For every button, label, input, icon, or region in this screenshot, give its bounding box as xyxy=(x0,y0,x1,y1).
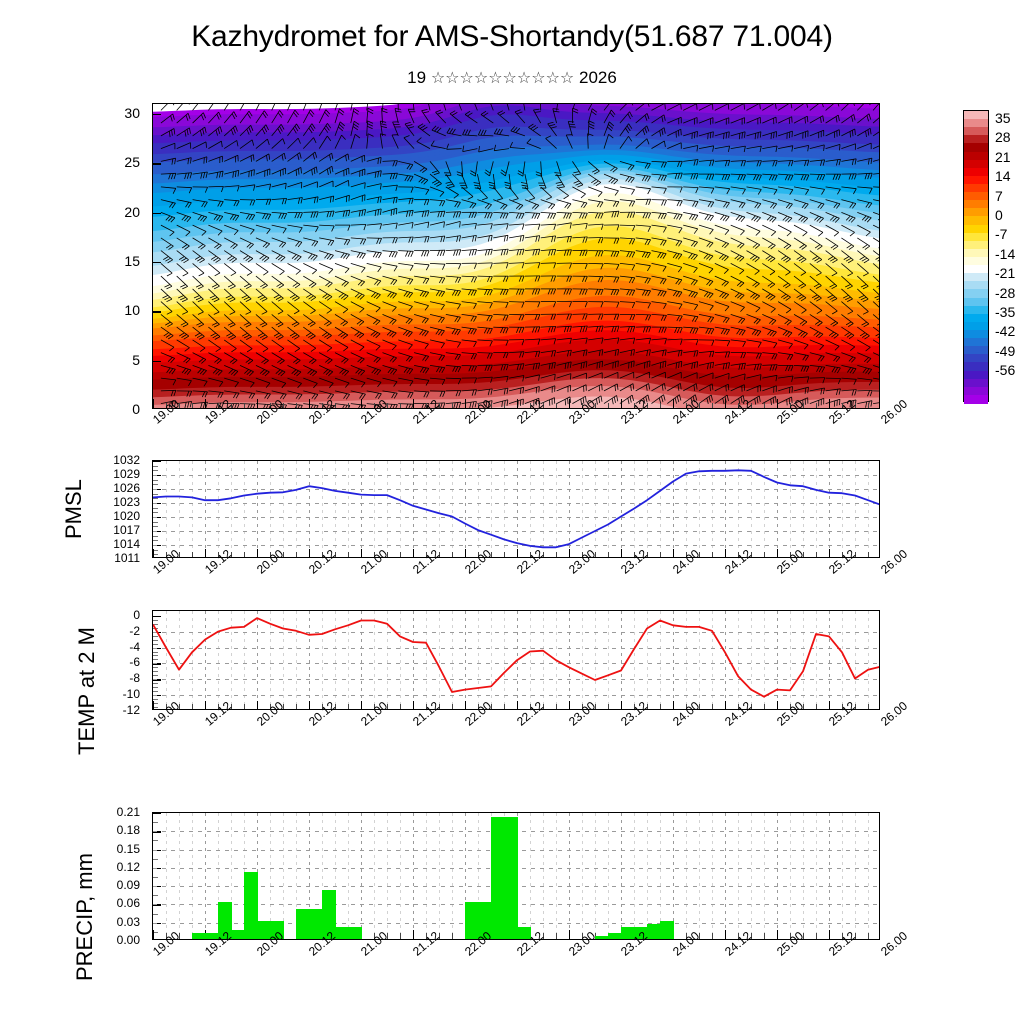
y-tick-label: 1014 xyxy=(113,537,140,551)
y-tick-label: 1020 xyxy=(113,509,140,523)
y-tick-label: 1023 xyxy=(113,495,140,509)
subtitle: 19 ☆☆☆☆☆☆☆☆☆☆ 2026 xyxy=(0,68,1024,88)
upper-air-cross-section[interactable] xyxy=(152,103,880,409)
pmsl-y-axis: 10321029102610231020101710141011 xyxy=(100,460,146,558)
x-tick-minor xyxy=(816,933,817,939)
x-tick-major xyxy=(205,399,206,408)
y-tick-label: 25 xyxy=(124,154,140,170)
y-tick-major xyxy=(153,311,161,312)
x-tick-major xyxy=(153,399,154,408)
x-tick-minor xyxy=(504,403,505,408)
y-tick-major xyxy=(153,361,161,362)
y-tick-label: 1011 xyxy=(114,551,140,565)
precip-bar xyxy=(244,872,258,939)
x-tick-label: 26.00 xyxy=(878,547,910,577)
x-tick-minor xyxy=(400,933,401,939)
precip-axis-label: PRECIP, mm xyxy=(14,771,156,981)
subtitle-year: 2026 xyxy=(579,68,617,87)
cross-section-y-axis: 302520151050 xyxy=(108,103,146,409)
temperature-colorbar[interactable] xyxy=(963,110,989,402)
precip-bar xyxy=(660,921,674,939)
x-tick-minor xyxy=(868,933,869,939)
pmsl-x-axis: 19.0019.1220.0020.1221.0021.1222.0022.12… xyxy=(152,562,912,610)
x-tick-major xyxy=(413,930,414,939)
x-tick-major xyxy=(465,399,466,408)
temp-panel[interactable] xyxy=(152,610,880,710)
pmsl-panel[interactable] xyxy=(152,460,880,558)
precip-bar xyxy=(296,909,310,939)
y-tick-major xyxy=(153,262,161,263)
x-tick-major xyxy=(829,399,830,408)
x-tick-major xyxy=(725,399,726,408)
x-tick-minor xyxy=(244,403,245,408)
x-tick-minor xyxy=(764,403,765,408)
colorbar-tick-label: 35 xyxy=(995,110,1011,126)
precip-bar xyxy=(192,933,206,939)
x-tick-minor xyxy=(868,403,869,408)
x-tick-minor xyxy=(712,403,713,408)
x-tick-major xyxy=(777,399,778,408)
precip-bar xyxy=(335,927,349,939)
temperature-field xyxy=(153,104,879,408)
y-tick-label: 30 xyxy=(124,105,140,121)
precip-panel[interactable] xyxy=(152,812,880,940)
x-tick-label: 26.00 xyxy=(878,929,910,959)
x-tick-minor xyxy=(452,933,453,939)
colorbar-tick-label: 21 xyxy=(995,149,1011,165)
colorbar-segment xyxy=(964,395,988,404)
y-tick-label: 20 xyxy=(124,204,140,220)
x-tick-major xyxy=(569,930,570,939)
x-tick-major xyxy=(777,930,778,939)
colorbar-tick-label: 14 xyxy=(995,168,1011,184)
y-tick-label: 10 xyxy=(124,302,140,318)
colorbar-tick-label: -14 xyxy=(995,246,1015,262)
colorbar-tick-label: 0 xyxy=(995,207,1003,223)
precip-bar xyxy=(465,902,479,939)
colorbar-tick-label: 28 xyxy=(995,129,1011,145)
y-tick-label: 1029 xyxy=(113,467,140,481)
temp-2m-series xyxy=(153,611,879,709)
precip-bar xyxy=(608,933,622,939)
y-tick-major xyxy=(153,163,161,164)
colorbar-tick-label: -42 xyxy=(995,323,1015,339)
precip-bar xyxy=(348,927,362,939)
pmsl-series xyxy=(153,461,879,557)
x-tick-major xyxy=(309,399,310,408)
x-tick-minor xyxy=(296,403,297,408)
x-tick-minor xyxy=(192,403,193,408)
precip-bar xyxy=(491,817,505,939)
y-tick-label: 5 xyxy=(132,352,140,368)
x-tick-minor xyxy=(556,933,557,939)
colorbar-tick-label: -49 xyxy=(995,343,1015,359)
temp-x-axis: 19.0019.1220.0020.1221.0021.1222.0022.12… xyxy=(152,714,912,762)
x-tick-major xyxy=(257,399,258,408)
cross-section-plot-area xyxy=(153,104,879,408)
x-tick-minor xyxy=(660,403,661,408)
y-tick-major xyxy=(153,213,161,214)
x-tick-minor xyxy=(348,403,349,408)
y-tick-major xyxy=(153,114,161,115)
precip-plot-area xyxy=(153,813,879,939)
pmsl-axis-label: PMSL xyxy=(45,479,103,539)
precip-bar xyxy=(647,924,661,939)
y-tick-label: 1017 xyxy=(113,523,140,537)
x-tick-major xyxy=(517,399,518,408)
x-tick-major xyxy=(361,399,362,408)
x-tick-minor xyxy=(608,403,609,408)
subtitle-day: 19 xyxy=(407,68,426,87)
y-tick-label: 1032 xyxy=(113,453,140,467)
x-tick-major xyxy=(569,399,570,408)
colorbar-tick-label: -21 xyxy=(995,265,1015,281)
precip-x-axis: 19.0019.1220.0020.1221.0021.1222.0022.12… xyxy=(152,944,912,992)
colorbar-tick-label: -28 xyxy=(995,285,1015,301)
x-tick-minor xyxy=(712,933,713,939)
colorbar-tick-label: -7 xyxy=(995,226,1007,242)
x-tick-minor xyxy=(816,403,817,408)
x-tick-label: 26.00 xyxy=(878,397,910,427)
colorbar-tick-label: -35 xyxy=(995,304,1015,320)
x-tick-major xyxy=(621,399,622,408)
x-tick-label: 26.00 xyxy=(878,699,910,729)
pmsl-plot-area xyxy=(153,461,879,557)
x-tick-minor xyxy=(764,933,765,939)
y-tick-label: 0 xyxy=(132,401,140,417)
colorbar-tick-label: -56 xyxy=(995,362,1015,378)
x-tick-major xyxy=(829,930,830,939)
temp-plot-area xyxy=(153,611,879,709)
page-title: Kazhydromet for AMS-Shortandy(51.687 71.… xyxy=(0,20,1024,54)
x-tick-major xyxy=(725,930,726,939)
colorbar-tick-labels: 3528211470-7-14-21-28-35-42-49-56 xyxy=(995,110,1024,402)
colorbar-tick-label: 7 xyxy=(995,188,1003,204)
precip-bar xyxy=(504,817,518,939)
x-tick-major xyxy=(413,399,414,408)
x-tick-minor xyxy=(400,403,401,408)
x-tick-minor xyxy=(452,403,453,408)
temp-axis-label: TEMP at 2 M xyxy=(32,565,142,755)
cross-section-x-axis: 19.0019.1220.0020.1221.0021.1222.0022.12… xyxy=(152,412,912,460)
x-tick-major xyxy=(673,399,674,408)
y-tick-label: 15 xyxy=(124,253,140,269)
y-tick-label: 1026 xyxy=(113,481,140,495)
x-tick-minor xyxy=(556,403,557,408)
subtitle-month-glyphs: ☆☆☆☆☆☆☆☆☆☆ xyxy=(431,70,574,87)
